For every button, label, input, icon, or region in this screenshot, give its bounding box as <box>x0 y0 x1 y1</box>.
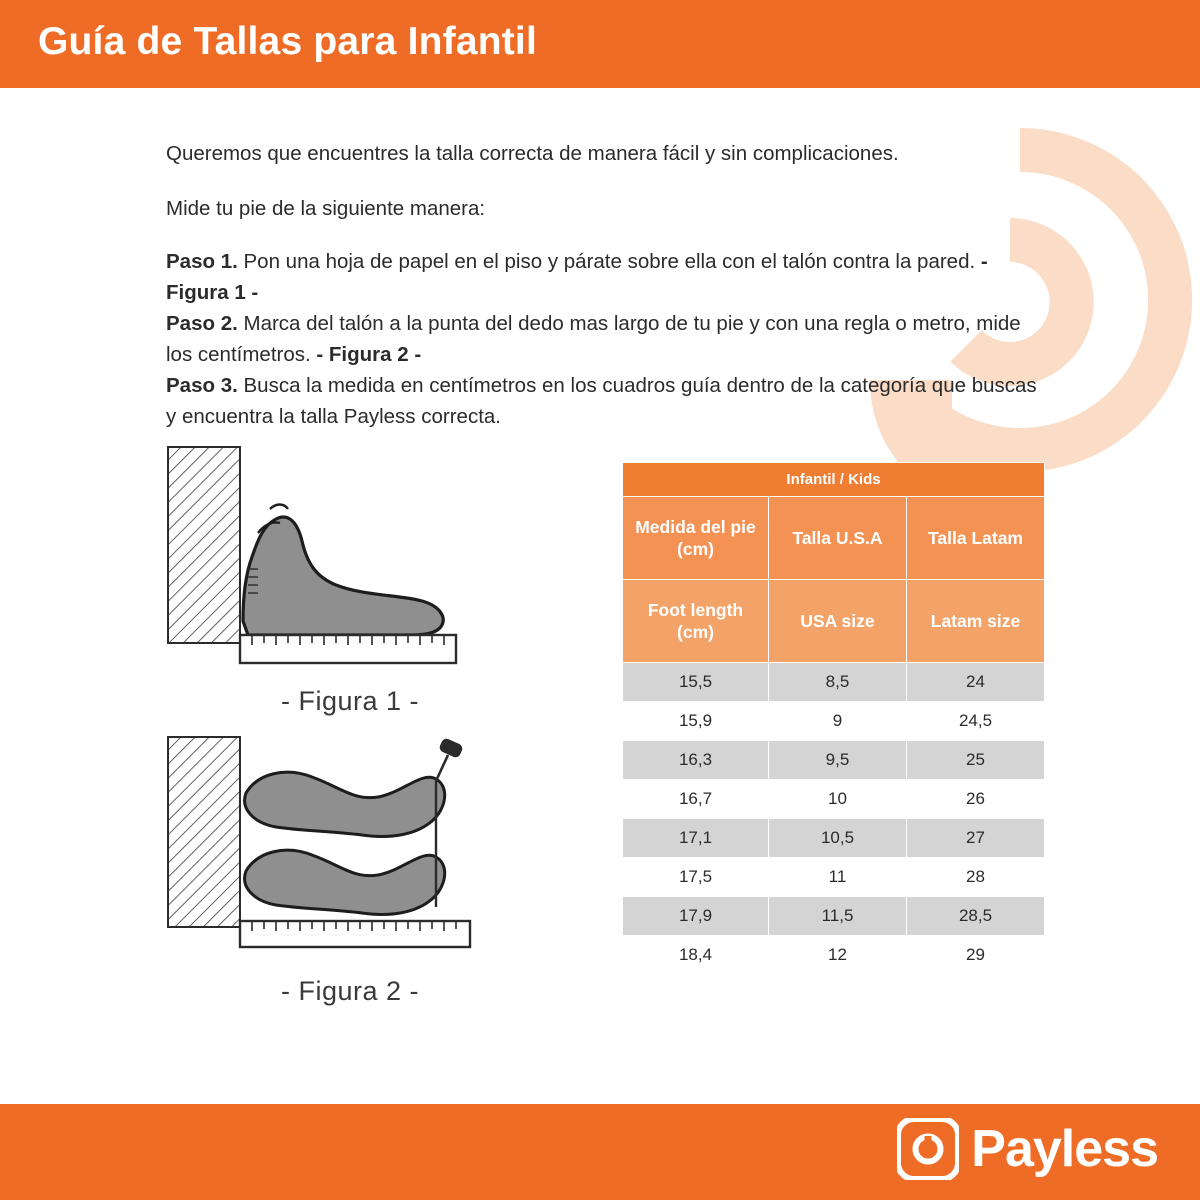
cell-foot-length: 16,3 <box>623 741 769 780</box>
figure-1-block: - Figura 1 - <box>140 445 560 717</box>
step-3-text: Busca la medida en centímetros en los cu… <box>166 374 1037 428</box>
page-title: Guía de Tallas para Infantil <box>38 20 537 64</box>
cell-usa-size: 9 <box>769 702 907 741</box>
step-2-label: Paso 2. <box>166 312 238 335</box>
table-title-row: Infantil / Kids <box>623 463 1045 497</box>
cell-usa-size: 12 <box>769 936 907 975</box>
intro-line-1: Queremos que encuentres la talla correct… <box>166 138 1046 169</box>
cell-foot-length: 17,5 <box>623 858 769 897</box>
table-row: 17,1 10,5 27 <box>623 819 1045 858</box>
header-es-latam-size: Talla Latam <box>907 497 1045 580</box>
table-row: 16,7 10 26 <box>623 780 1045 819</box>
figure-2-footprint-measure-illustration <box>140 735 560 965</box>
step-2-figure-ref: - Figura 2 - <box>316 343 421 366</box>
intro-text-block: Queremos que encuentres la talla correct… <box>166 138 1046 432</box>
cell-foot-length: 16,7 <box>623 780 769 819</box>
intro-line-2: Mide tu pie de la siguiente manera: <box>166 193 1046 224</box>
cell-latam-size: 25 <box>907 741 1045 780</box>
table-row: 15,5 8,5 24 <box>623 663 1045 702</box>
figure-2-block: - Figura 2 - <box>140 735 560 1007</box>
header-en-latam-size: Latam size <box>907 580 1045 663</box>
table-row: 16,3 9,5 25 <box>623 741 1045 780</box>
cell-usa-size: 11,5 <box>769 897 907 936</box>
size-table: Infantil / Kids Medida del pie (cm) Tall… <box>622 462 1045 975</box>
cell-usa-size: 10,5 <box>769 819 907 858</box>
cell-latam-size: 29 <box>907 936 1045 975</box>
step-3-label: Paso 3. <box>166 374 238 397</box>
step-3: Paso 3. Busca la medida en centímetros e… <box>166 370 1046 432</box>
cell-latam-size: 28 <box>907 858 1045 897</box>
table-header-es: Medida del pie (cm) Talla U.S.A Talla La… <box>623 497 1045 580</box>
header-en-usa-size: USA size <box>769 580 907 663</box>
table-title: Infantil / Kids <box>623 463 1045 497</box>
cell-latam-size: 27 <box>907 819 1045 858</box>
header-es-usa-size: Talla U.S.A <box>769 497 907 580</box>
cell-foot-length: 17,1 <box>623 819 769 858</box>
cell-latam-size: 24 <box>907 663 1045 702</box>
cell-foot-length: 15,5 <box>623 663 769 702</box>
cell-latam-size: 28,5 <box>907 897 1045 936</box>
cell-foot-length: 15,9 <box>623 702 769 741</box>
cell-usa-size: 11 <box>769 858 907 897</box>
cell-usa-size: 9,5 <box>769 741 907 780</box>
cell-usa-size: 8,5 <box>769 663 907 702</box>
figure-1-caption: - Figura 1 - <box>140 686 560 717</box>
table-row: 18,4 12 29 <box>623 936 1045 975</box>
cell-usa-size: 10 <box>769 780 907 819</box>
table-row: 17,9 11,5 28,5 <box>623 897 1045 936</box>
figure-1-foot-against-wall-illustration <box>140 445 560 675</box>
figure-2-caption: - Figura 2 - <box>140 976 560 1007</box>
figures-column: - Figura 1 - <box>140 445 560 1007</box>
cell-foot-length: 17,9 <box>623 897 769 936</box>
table-header-en: Foot length (cm) USA size Latam size <box>623 580 1045 663</box>
step-1: Paso 1. Pon una hoja de papel en el piso… <box>166 246 1046 308</box>
payless-logo: Payless <box>897 1118 1158 1180</box>
step-2: Paso 2. Marca del talón a la punta del d… <box>166 308 1046 370</box>
table-row: 17,5 11 28 <box>623 858 1045 897</box>
step-2-text: Marca del talón a la punta del dedo mas … <box>166 312 1021 366</box>
header-en-foot-length: Foot length (cm) <box>623 580 769 663</box>
step-1-text: Pon una hoja de papel en el piso y párat… <box>238 250 981 273</box>
payless-wordmark: Payless <box>971 1123 1158 1175</box>
cell-latam-size: 26 <box>907 780 1045 819</box>
step-1-label: Paso 1. <box>166 250 238 273</box>
cell-latam-size: 24,5 <box>907 702 1045 741</box>
table-row: 15,9 9 24,5 <box>623 702 1045 741</box>
size-guide-page: Guía de Tallas para Infantil Queremos qu… <box>0 0 1200 1200</box>
header-es-foot-length: Medida del pie (cm) <box>623 497 769 580</box>
payless-mark-icon <box>897 1118 959 1180</box>
cell-foot-length: 18,4 <box>623 936 769 975</box>
